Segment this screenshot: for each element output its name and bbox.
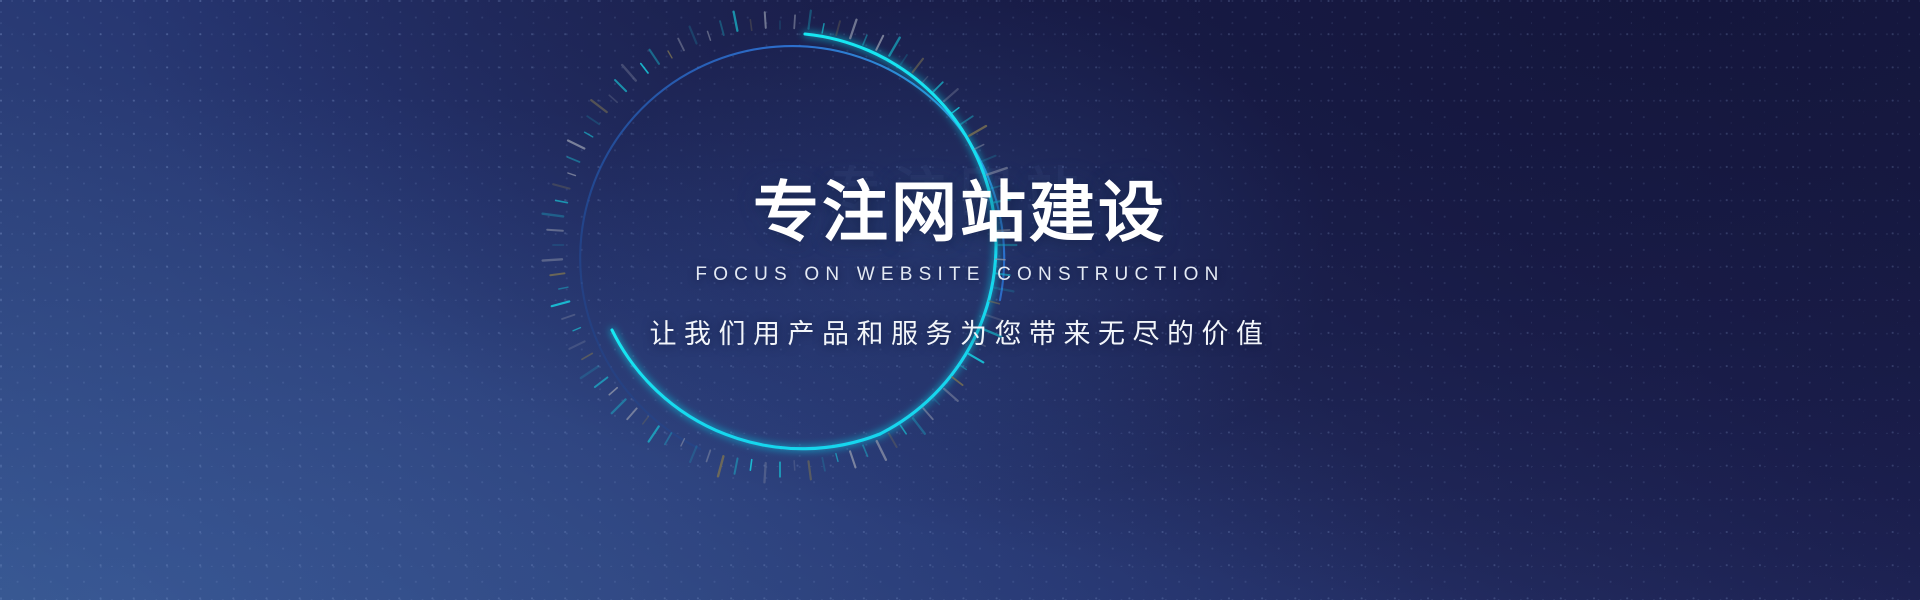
banner-subheadline: FOCUS ON WEBSITE CONSTRUCTION — [695, 264, 1224, 286]
hero-banner: 专注网站 — [0, 0, 1920, 600]
banner-tagline: 让我们用产品和服务为您带来无尽的价值 — [650, 312, 1271, 351]
banner-content: 专注网站建设 FOCUS ON WEBSITE CONSTRUCTION 让我们… — [0, 0, 1920, 600]
banner-headline: 专注网站建设 — [753, 178, 1167, 248]
